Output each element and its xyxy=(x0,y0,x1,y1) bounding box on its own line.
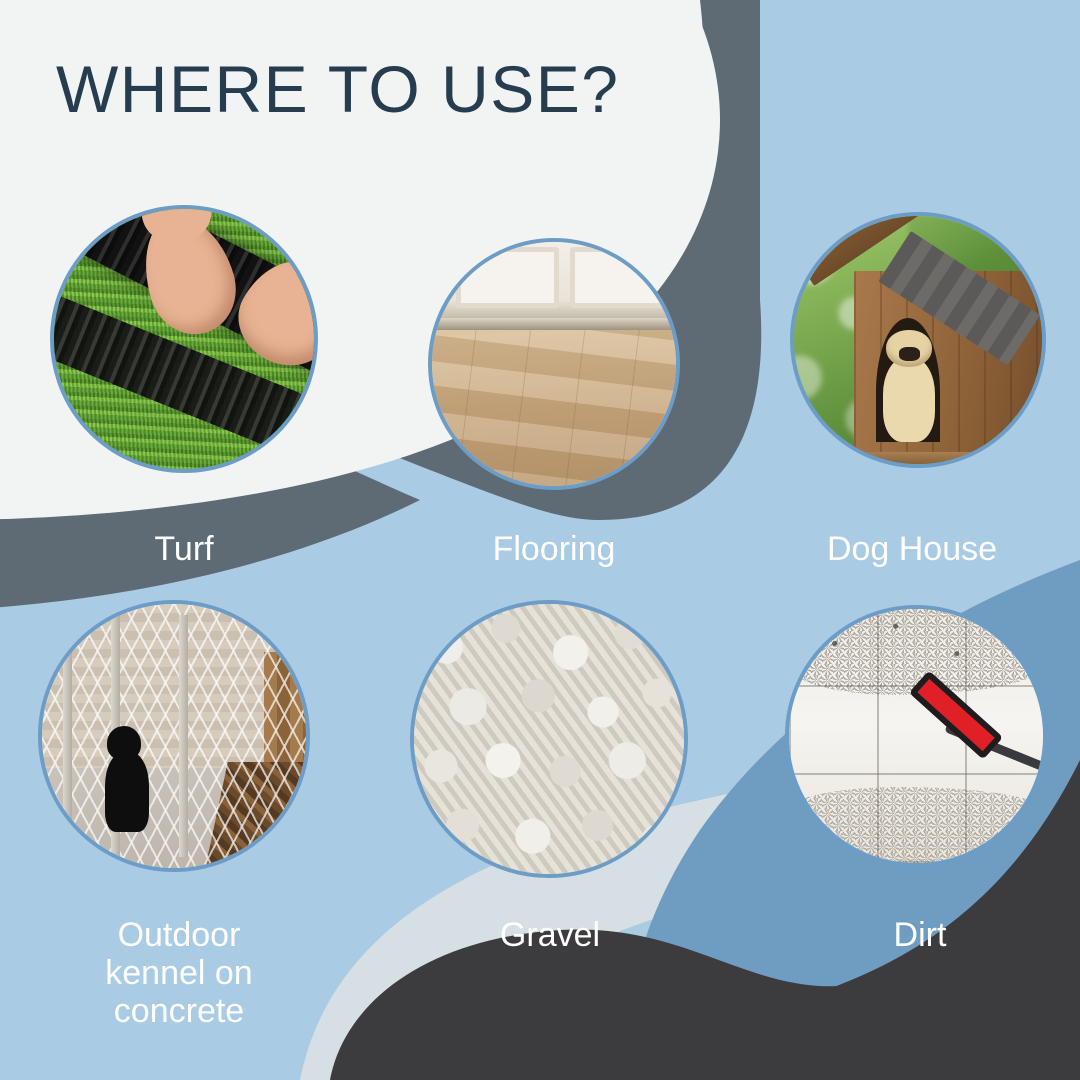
infographic-canvas: WHERE TO USE? Turf Flooring Dog House xyxy=(0,0,1080,1080)
hand-icon xyxy=(131,205,247,344)
fence-post xyxy=(179,615,188,858)
kennel-photo xyxy=(42,604,306,868)
label-turf: Turf xyxy=(44,530,324,568)
photo-circle-outdoor-kennel[interactable] xyxy=(38,600,310,872)
cabinet-shape xyxy=(428,242,680,323)
dirt-dust-bottom xyxy=(789,787,1043,863)
pug-dog-shape xyxy=(883,357,935,441)
label-outdoor-kennel: Outdoor kennel on concrete xyxy=(34,916,324,1030)
page-title: WHERE TO USE? xyxy=(56,56,620,122)
black-dog-shape xyxy=(105,752,149,832)
hand-icon xyxy=(223,245,318,382)
label-flooring: Flooring xyxy=(414,530,694,568)
flooring-photo xyxy=(432,242,676,486)
gravel-photo xyxy=(414,604,684,874)
label-dog-house: Dog House xyxy=(772,530,1052,568)
photo-circle-flooring[interactable] xyxy=(428,238,680,490)
dirt-dust-top xyxy=(789,609,1043,695)
chain-link-mesh xyxy=(42,604,306,868)
fence-post xyxy=(63,615,72,858)
photo-circle-dirt[interactable] xyxy=(785,605,1047,867)
label-dirt: Dirt xyxy=(780,916,1060,954)
photo-circle-turf[interactable] xyxy=(50,205,318,473)
dirt-photo xyxy=(789,609,1043,863)
photo-circle-dog-house[interactable] xyxy=(790,212,1046,468)
turf-photo xyxy=(54,209,314,469)
label-gravel: Gravel xyxy=(410,916,690,954)
baseboard-shape xyxy=(428,318,680,330)
dog-house-photo xyxy=(794,216,1042,464)
photo-circle-gravel[interactable] xyxy=(410,600,688,878)
